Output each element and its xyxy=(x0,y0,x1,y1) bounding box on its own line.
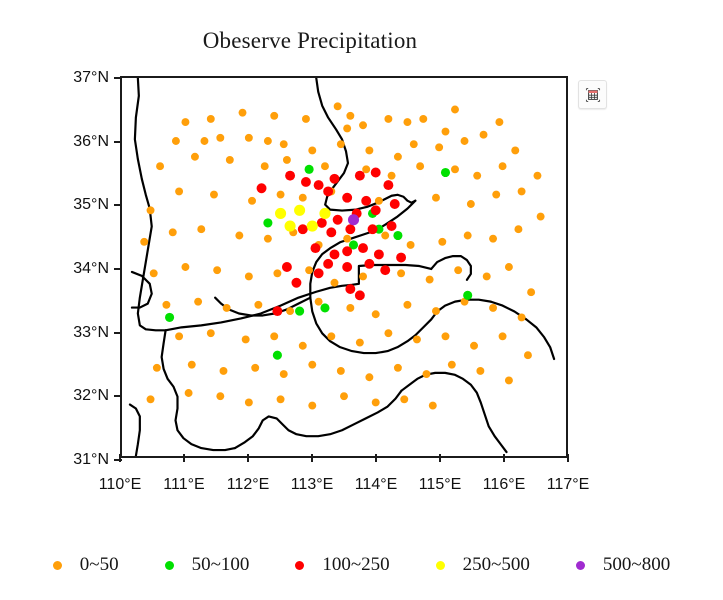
y-tick-mark xyxy=(114,395,122,397)
y-axis: 31°N32°N33°N34°N35°N36°N37°N xyxy=(122,78,566,456)
x-tick-label: 113°E xyxy=(291,476,334,494)
x-tick-mark xyxy=(247,454,249,462)
legend-item[interactable]: 250~500 xyxy=(436,554,530,576)
page-title: Obeserve Precipitation xyxy=(0,28,620,54)
x-tick-mark xyxy=(503,454,505,462)
y-tick-label: 36°N xyxy=(73,133,109,151)
legend-item[interactable]: 500~800 xyxy=(576,554,670,576)
y-tick-label: 34°N xyxy=(73,260,109,278)
legend-label: 50~100 xyxy=(192,554,250,576)
legend-swatch-icon xyxy=(576,561,585,570)
x-tick-mark xyxy=(119,454,121,462)
x-tick-mark xyxy=(375,454,377,462)
x-tick-label: 115°E xyxy=(419,476,462,494)
y-tick-mark xyxy=(114,141,122,143)
x-tick-label: 116°E xyxy=(483,476,526,494)
y-tick-label: 33°N xyxy=(73,324,109,342)
x-tick-label: 110°E xyxy=(99,476,142,494)
y-tick-label: 37°N xyxy=(73,69,109,87)
legend-item[interactable]: 50~100 xyxy=(165,554,250,576)
legend-label: 500~800 xyxy=(603,554,670,576)
y-tick-mark xyxy=(114,204,122,206)
legend-label: 100~250 xyxy=(322,554,389,576)
y-tick-mark xyxy=(114,332,122,334)
legend-item[interactable]: 100~250 xyxy=(295,554,389,576)
legend-item[interactable]: 0~50 xyxy=(53,554,119,576)
map-plot-area: 31°N32°N33°N34°N35°N36°N37°N xyxy=(120,76,568,458)
table-grid-icon-button[interactable] xyxy=(578,80,607,109)
y-tick-label: 32°N xyxy=(73,387,109,405)
x-tick-label: 112°E xyxy=(227,476,270,494)
legend-swatch-icon xyxy=(295,561,304,570)
legend-label: 250~500 xyxy=(463,554,530,576)
table-grid-icon xyxy=(585,87,601,103)
legend-swatch-icon xyxy=(165,561,174,570)
x-tick-mark xyxy=(183,454,185,462)
y-tick-label: 35°N xyxy=(73,196,109,214)
x-tick-label: 111°E xyxy=(163,476,204,494)
y-tick-label: 31°N xyxy=(73,451,109,469)
y-tick-mark xyxy=(114,77,122,79)
x-axis: 110°E111°E112°E113°E114°E115°E116°E117°E xyxy=(120,462,568,486)
x-tick-mark xyxy=(439,454,441,462)
y-tick-mark xyxy=(114,268,122,270)
x-tick-label: 114°E xyxy=(355,476,398,494)
x-tick-mark xyxy=(311,454,313,462)
legend-label: 0~50 xyxy=(80,554,119,576)
x-tick-label: 117°E xyxy=(547,476,590,494)
legend-swatch-icon xyxy=(53,561,62,570)
figure-canvas: Obeserve Precipitation xyxy=(0,0,723,600)
legend: 0~5050~100100~250250~500500~800 xyxy=(0,548,723,582)
x-tick-mark xyxy=(567,454,569,462)
legend-swatch-icon xyxy=(436,561,445,570)
